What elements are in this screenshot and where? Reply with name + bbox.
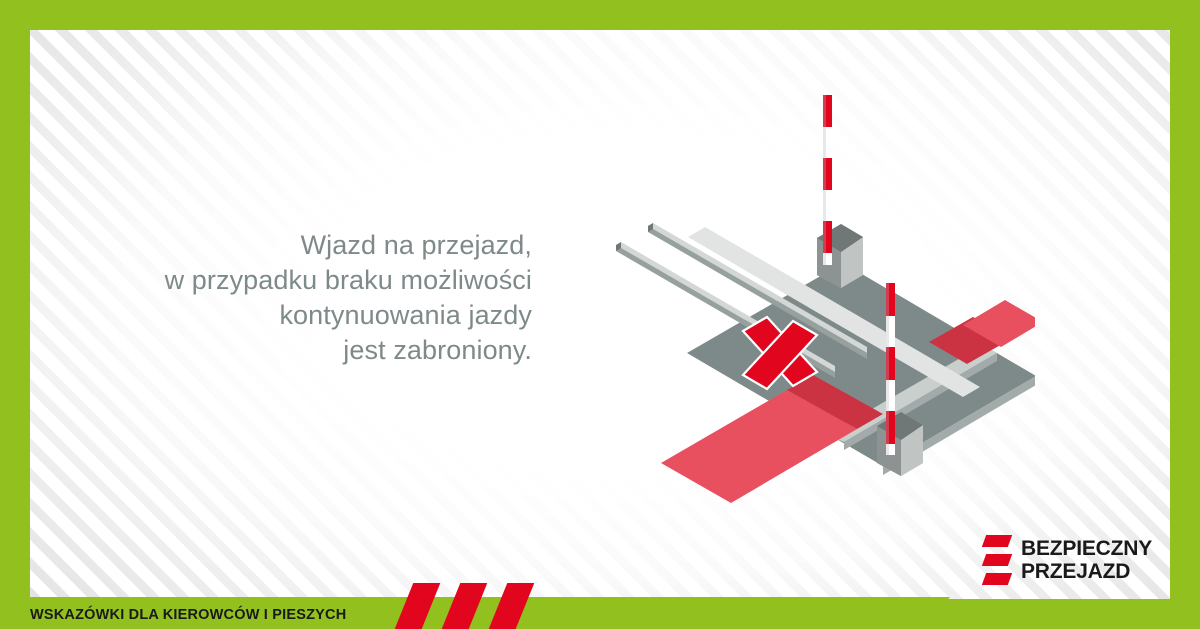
crossing-illustration	[595, 85, 1035, 515]
crossing-illustration-svg	[595, 85, 1035, 515]
three-red-bars-mark-icon	[984, 535, 1010, 585]
poster-root: Wjazd na przejazd, w przypadku braku moż…	[0, 0, 1200, 629]
red-slant-bar-1	[395, 583, 441, 629]
barrier-far	[817, 95, 863, 288]
barrier-post-near	[886, 283, 895, 455]
red-slant-bars	[398, 583, 533, 629]
logo-bar-1	[982, 535, 1012, 547]
red-slant-bar-3	[489, 583, 535, 629]
red-slant-bar-2	[442, 583, 488, 629]
brand-logo-line2: PRZEJAZD	[1021, 560, 1152, 583]
logo-bar-3	[982, 573, 1012, 585]
bottom-banner-label: WSKAZÓWKI DLA KIEROWCÓW I PIESZYCH	[30, 607, 346, 623]
logo-bar-2	[982, 554, 1012, 566]
brand-logo-line1: BEZPIECZNY	[1021, 537, 1152, 560]
barrier-post-far	[823, 95, 832, 265]
brand-logo-words: BEZPIECZNY PRZEJAZD	[1021, 537, 1152, 583]
brand-logo[interactable]: BEZPIECZNY PRZEJAZD	[984, 535, 1152, 585]
page-headline: Wjazd na przejazd, w przypadku braku moż…	[120, 228, 532, 368]
